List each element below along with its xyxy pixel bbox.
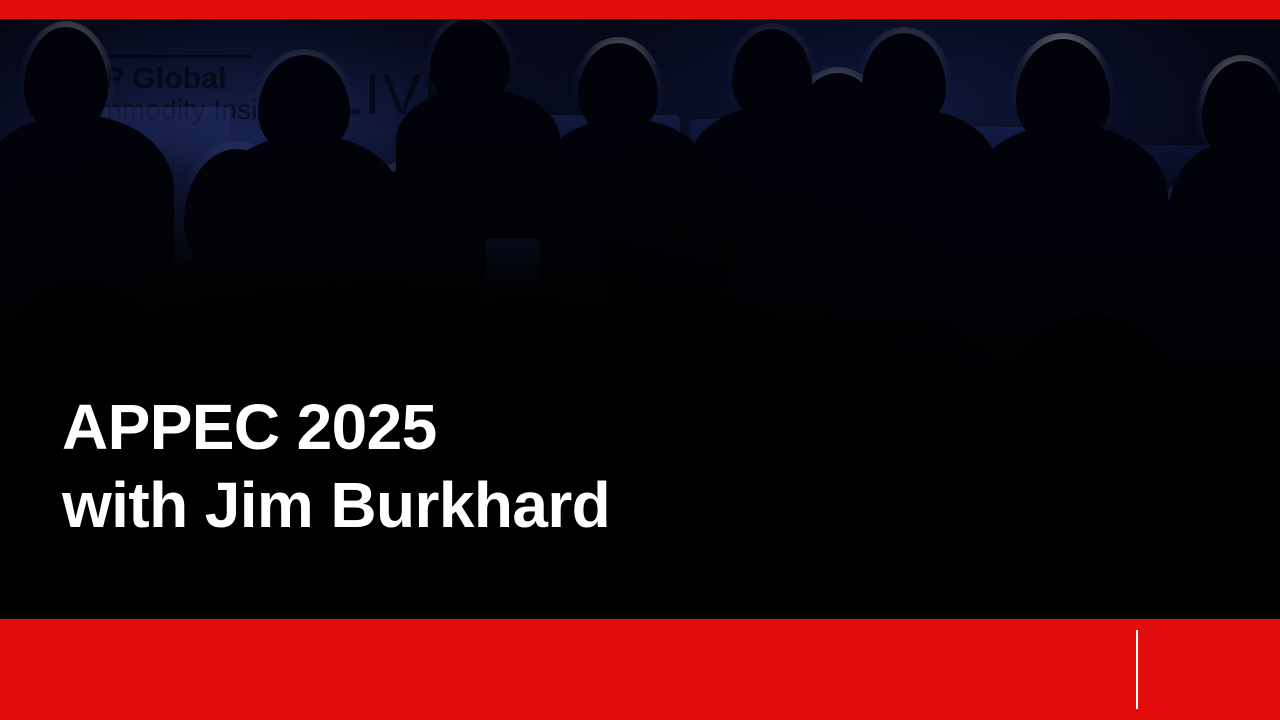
footer-bar (0, 619, 1280, 720)
video-frame: S&P Global Commodity Insights LIVE APPEC… (0, 0, 1280, 720)
top-accent-bar (0, 0, 1280, 19)
title-line-2: with Jim Burkhard (62, 466, 610, 544)
audience-shoulders (930, 489, 1280, 619)
title-block: APPEC 2025 with Jim Burkhard (62, 388, 610, 544)
title-line-1: APPEC 2025 (62, 388, 610, 466)
logo-divider (1136, 630, 1138, 709)
